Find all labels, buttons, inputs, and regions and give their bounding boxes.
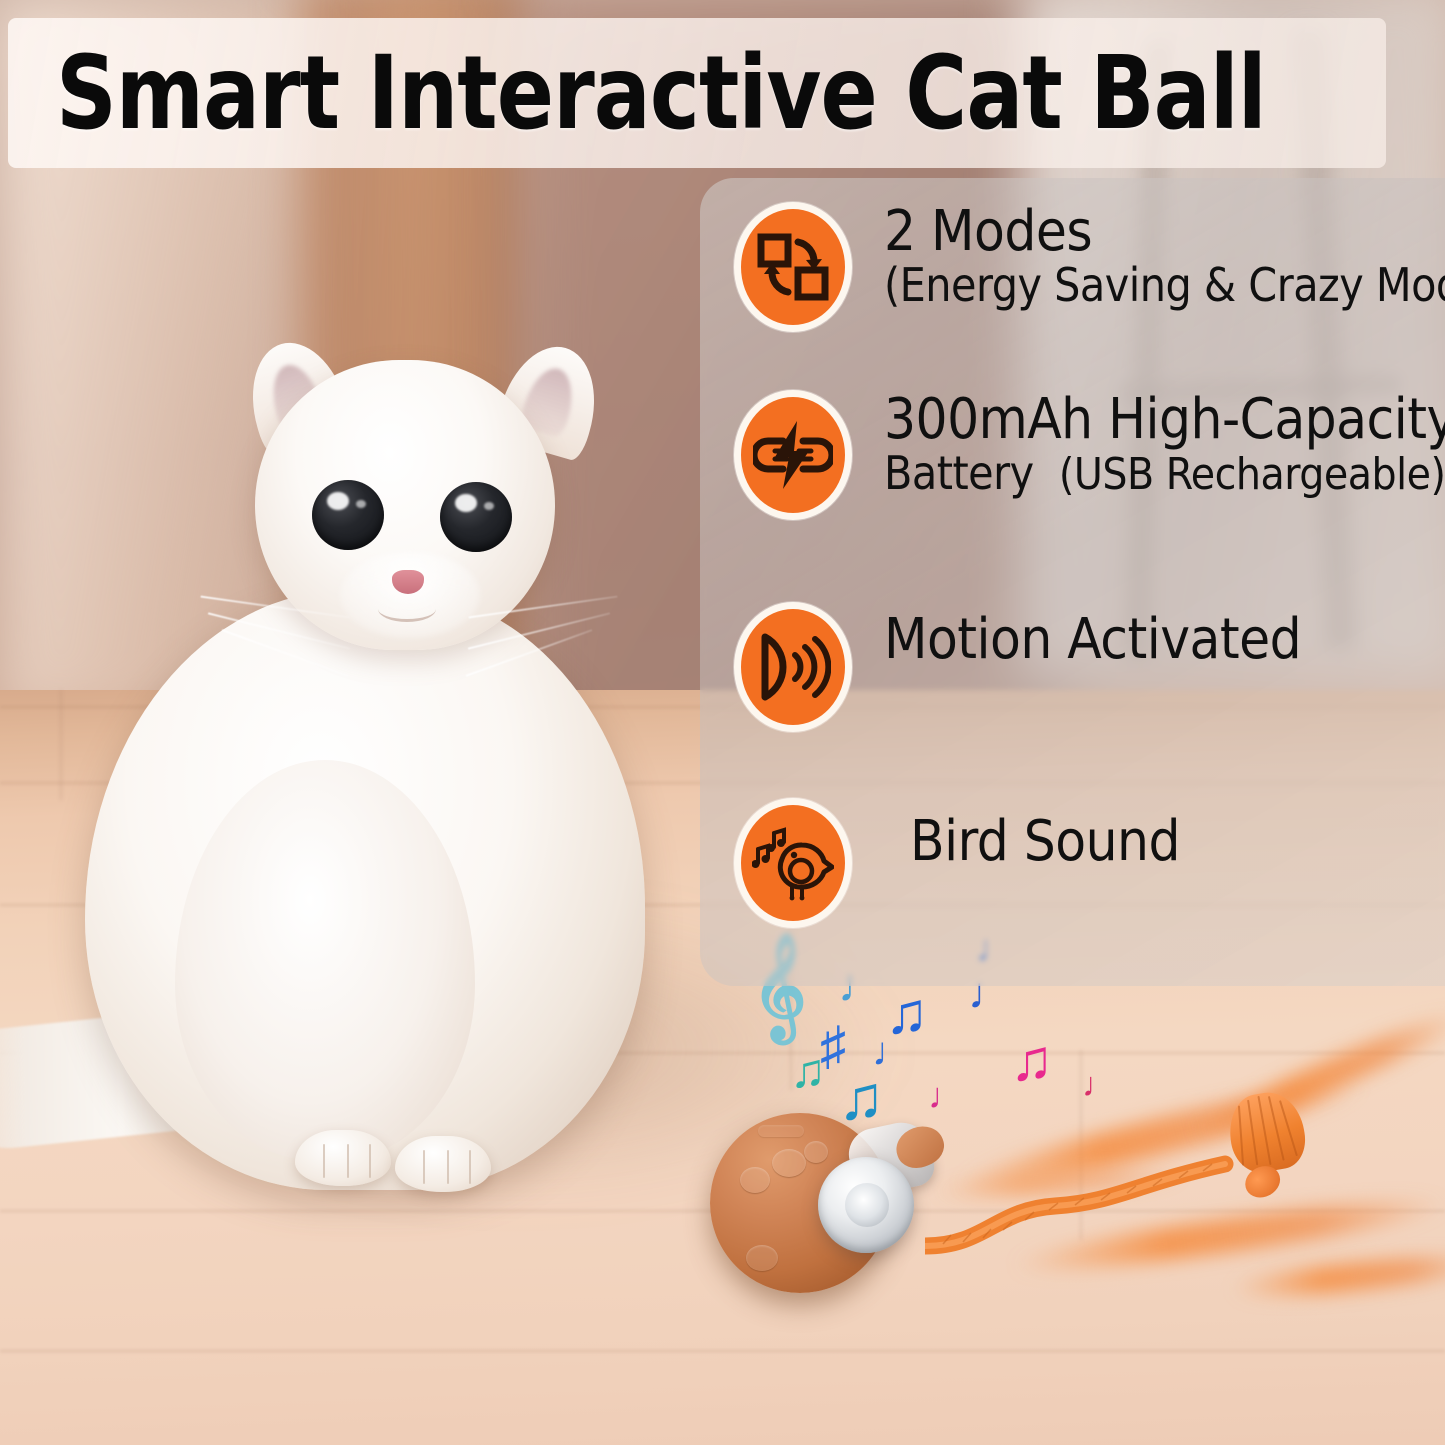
title-banner: Smart Interactive Cat Ball [8, 18, 1386, 168]
feature-subtitle-modes: (Energy Saving & Crazy Mode) [884, 261, 1445, 310]
music-note: ♫ [838, 1068, 885, 1130]
page-title: Smart Interactive Cat Ball [56, 34, 1266, 153]
cat-eye-right [440, 482, 512, 552]
feature-title-bird: Bird Sound [910, 809, 1180, 874]
ball-wheel-hub [845, 1183, 889, 1227]
cat-eye-left [312, 480, 384, 550]
feature-item-motion: Motion Activated [734, 602, 1301, 732]
feature-item-battery: 300mAh High-Capacity Battery (USB Rechar… [734, 390, 1445, 520]
cat-ball-product [700, 1105, 940, 1305]
feature-title-modes: 2 Modes [884, 199, 1092, 264]
product-marketing-image: 𝄞 ♩ ♫ ♩ ♯ ♫ ♩ ♫ ♩ ♫ ♩ ♩ Smart Interactiv… [0, 0, 1445, 1445]
feature-text-motion: Motion Activated [884, 610, 1301, 669]
cat-photo [0, 330, 760, 1230]
ball-speaker-holes [758, 1125, 804, 1137]
rope-toy [925, 1150, 1255, 1270]
feature-text-bird: Bird Sound [910, 812, 1180, 871]
bird-sound-icon [734, 798, 852, 928]
two-modes-swap-icon [734, 202, 852, 332]
feature-subtitle-battery: Battery (USB Rechargeable) [884, 449, 1445, 499]
music-note: ♩ [1082, 1068, 1116, 1102]
feature-panel: 2 Modes (Energy Saving & Crazy Mode) 300… [700, 178, 1445, 986]
cat-muzzle [340, 552, 480, 638]
ball-paw-emboss [804, 1141, 828, 1163]
feature-title-battery: 300mAh High-Capacity [884, 387, 1445, 452]
feature-item-modes: 2 Modes (Energy Saving & Crazy Mode) [734, 202, 1445, 332]
feature-text-battery: 300mAh High-Capacity Battery (USB Rechar… [884, 390, 1445, 499]
feature-item-bird: Bird Sound [734, 798, 1180, 928]
ball-paw-emboss [772, 1149, 806, 1177]
feature-battery-note: (USB Rechargeable) [1059, 449, 1445, 500]
music-note: ♫ [1010, 1032, 1054, 1090]
ball-paw-emboss [740, 1167, 770, 1193]
feature-text-modes: 2 Modes (Energy Saving & Crazy Mode) [884, 202, 1445, 310]
cat-paw-right [395, 1136, 491, 1192]
music-note: ♫ [790, 1048, 826, 1096]
battery-charge-icon [734, 390, 852, 520]
music-note: ♩ [928, 1078, 964, 1114]
motion-sensor-icon [734, 602, 852, 732]
cat-mouth [378, 596, 436, 622]
feature-battery-word: Battery [884, 446, 1034, 500]
cat-paw-left [295, 1130, 391, 1186]
feature-title-motion: Motion Activated [884, 607, 1301, 672]
ball-paw-emboss [746, 1245, 778, 1271]
